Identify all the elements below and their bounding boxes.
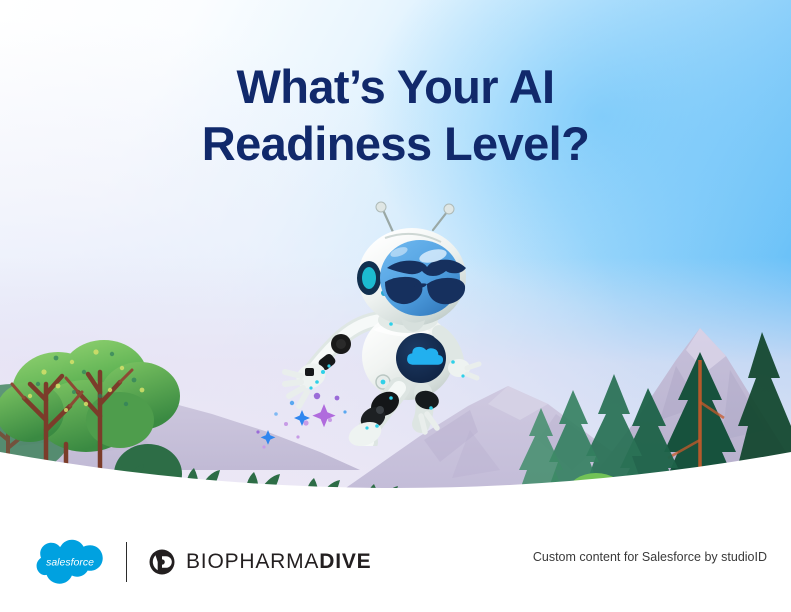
slide-canvas: What’s Your AI Readiness Level? salesfor… — [0, 0, 791, 612]
wordmark-dive: DIVE — [319, 550, 371, 573]
title-line-2: Readiness Level? — [0, 115, 791, 172]
logo-lockup: salesforce BIOPHARMADIVE — [36, 534, 371, 590]
credit-line: Custom content for Salesforce by studioI… — [533, 550, 767, 564]
salesforce-wordmark: salesforce — [46, 557, 94, 569]
salesforce-logo[interactable]: salesforce — [36, 538, 104, 586]
logo-divider — [126, 542, 127, 582]
robot-head — [357, 228, 466, 326]
biopharma-dive-wordmark: BIOPHARMADIVE — [186, 550, 371, 574]
astro-robot-mascot — [281, 196, 491, 446]
wordmark-biopharma: BIOPHARMA — [186, 550, 319, 573]
biopharma-dive-mark-icon — [149, 549, 175, 575]
page-title: What’s Your AI Readiness Level? — [0, 58, 791, 173]
footer: salesforce BIOPHARMADIVE — [0, 520, 791, 612]
robot-legs — [345, 387, 441, 446]
biopharma-dive-logo[interactable]: BIOPHARMADIVE — [149, 549, 371, 575]
title-line-1: What’s Your AI — [236, 60, 554, 113]
